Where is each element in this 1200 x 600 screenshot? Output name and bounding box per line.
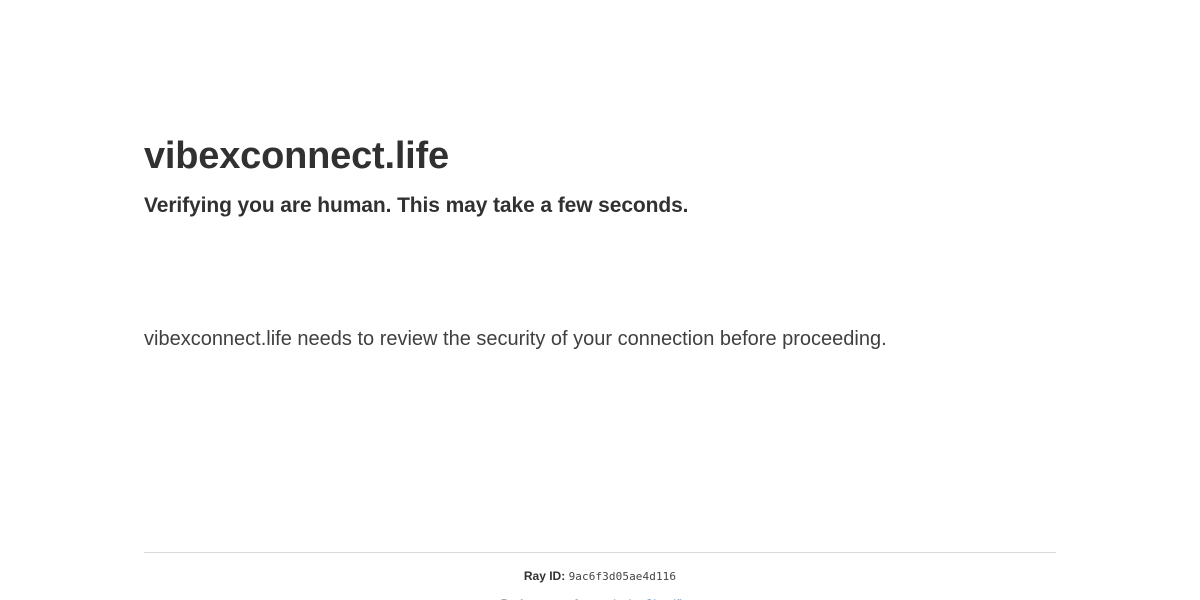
page-title: vibexconnect.life: [144, 133, 449, 179]
page-footer: Ray ID: 9ac6f3d05ae4d116 Performance & s…: [144, 552, 1056, 600]
verification-status-text: Verifying you are human. This may take a…: [144, 192, 688, 220]
ray-id-value: 9ac6f3d05ae4d116: [569, 570, 677, 583]
challenge-page: vibexconnect.life Verifying you are huma…: [0, 0, 1200, 600]
ray-id-label: Ray ID:: [524, 569, 565, 583]
turnstile-challenge-widget[interactable]: [144, 240, 464, 310]
security-review-description: vibexconnect.life needs to review the se…: [144, 321, 944, 357]
ray-id-row: Ray ID: 9ac6f3d05ae4d116: [144, 569, 1056, 584]
